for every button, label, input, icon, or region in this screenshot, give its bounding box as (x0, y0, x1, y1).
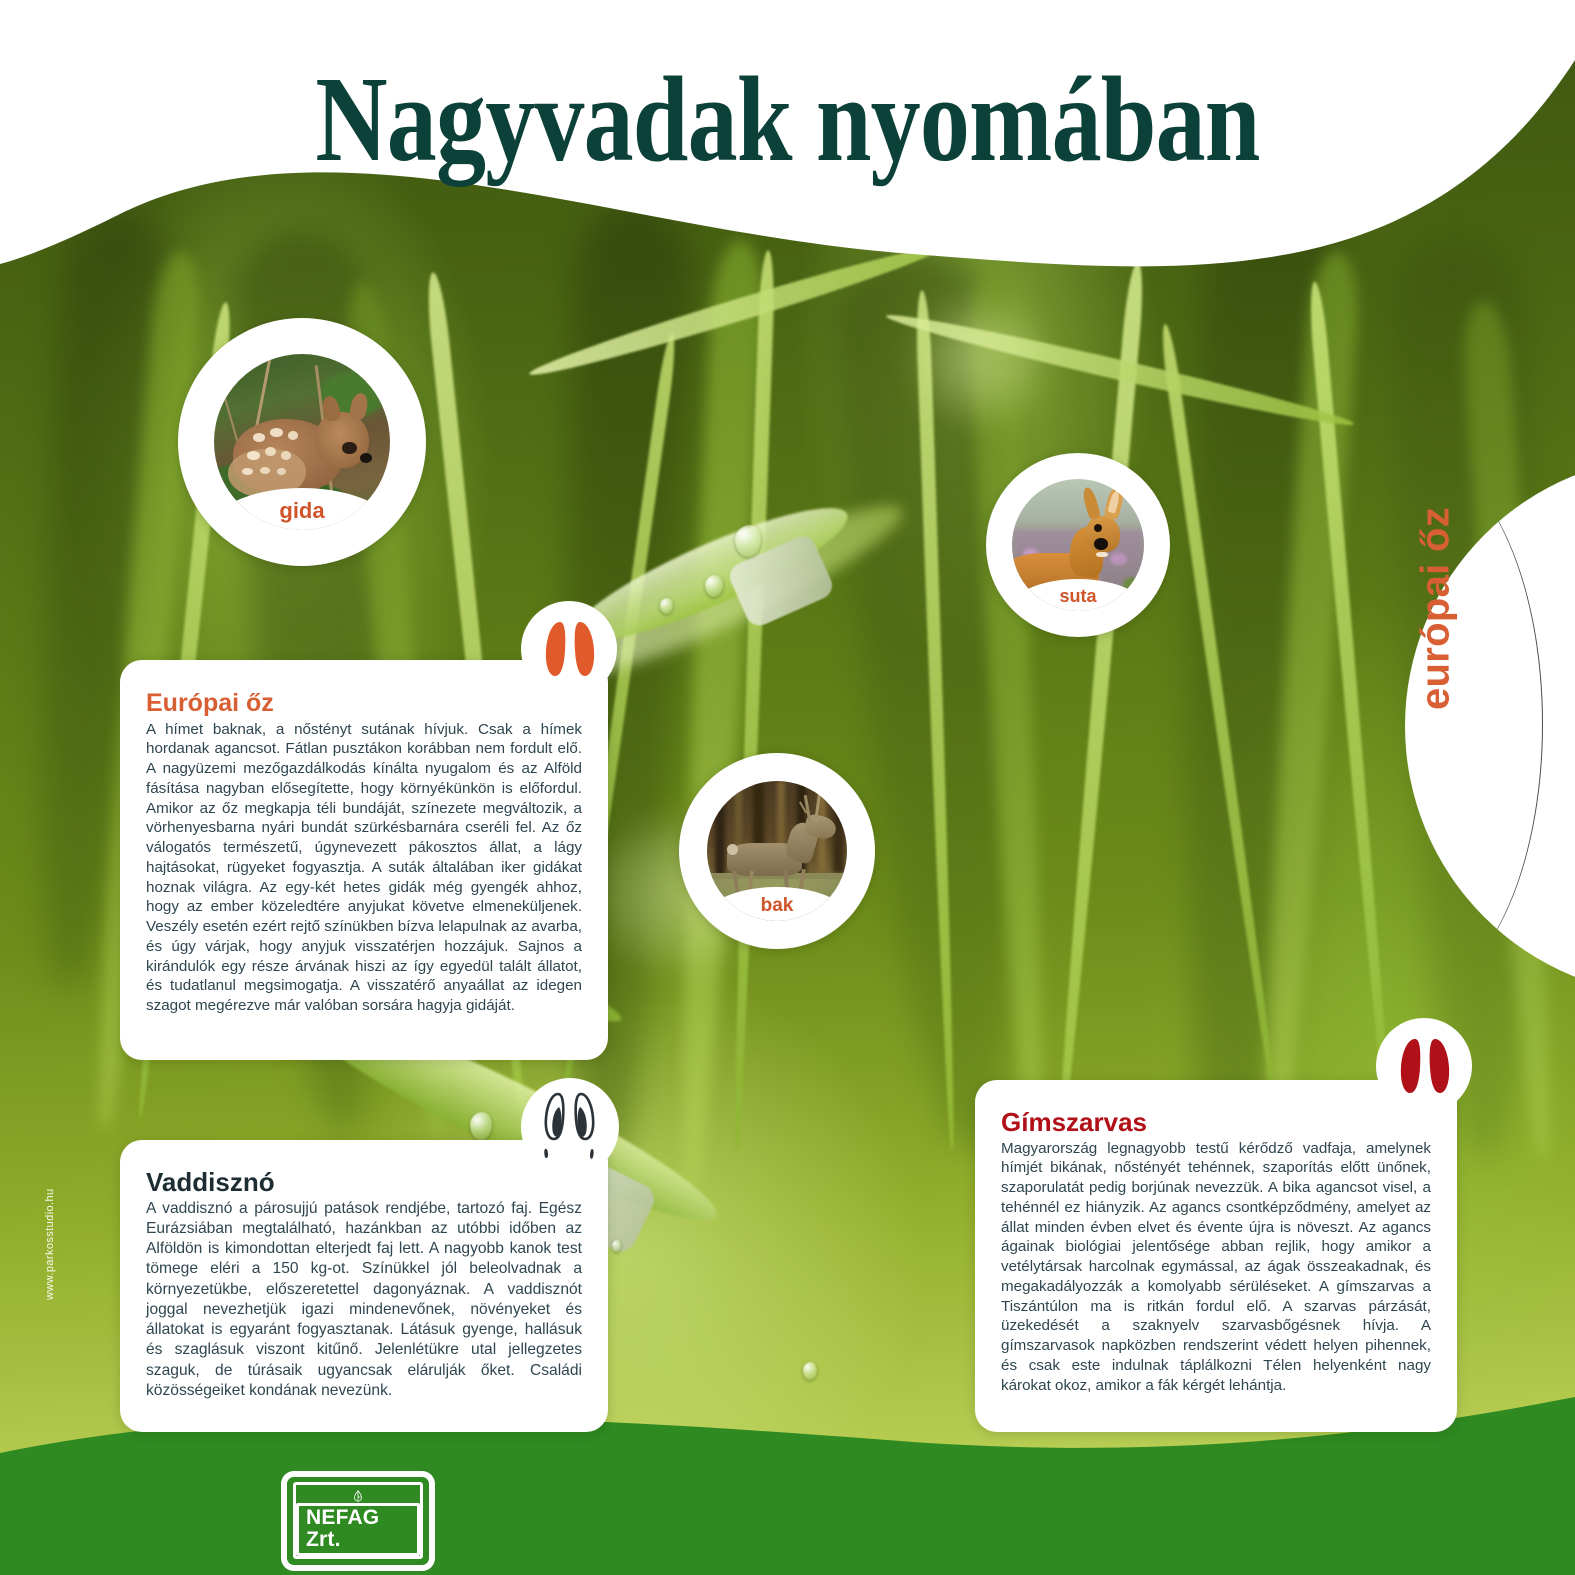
roe-deer-hoof-print-icon (540, 618, 598, 680)
side-tab-label: európai őz (1414, 444, 1459, 774)
panel-vaddiszno: Vaddisznó A vaddisznó a párosujjú patáso… (120, 1140, 608, 1432)
nefag-logo: NEFAG Zrt. (287, 1477, 429, 1565)
poster-root: Nagyvadak nyomában európai őz (0, 0, 1575, 1575)
panel-body-gimszarvas: Magyarország legnagyobb testű kérődző va… (1001, 1139, 1431, 1396)
panel-europai-oz: Európai őz A hímet baknak, a nőstényt su… (120, 660, 608, 1060)
panel-title-europai-oz: Európai őz (146, 690, 582, 718)
nefag-logo-frame: NEFAG Zrt. (293, 1482, 423, 1559)
wild-boar-hoof-print-badge (521, 1078, 619, 1176)
panel-gimszarvas: Gímszarvas Magyarország legnagyobb testű… (975, 1080, 1457, 1432)
panel-title-vaddiszno: Vaddisznó (146, 1168, 582, 1197)
red-deer-hoof-print-icon (1395, 1035, 1453, 1097)
red-deer-hoof-print-badge (1376, 1018, 1472, 1114)
photo-bak: bak (707, 781, 847, 921)
wild-boar-hoof-print-icon (537, 1091, 603, 1163)
photo-suta: suta (1012, 479, 1144, 611)
panel-body-vaddiszno: A vaddisznó a párosujjú patások rendjébe… (146, 1199, 582, 1402)
leaf-icon (345, 1490, 371, 1502)
studio-credit: www.parkosstudio.hu (44, 1188, 56, 1300)
page-title: Nagyvadak nyomában (142, 56, 1434, 184)
nefag-logo-text: NEFAG Zrt. (296, 1503, 420, 1556)
roe-deer-hoof-print-badge (521, 601, 617, 697)
photo-circle-suta: suta (986, 453, 1170, 637)
photo-gida: gida (214, 354, 390, 530)
photo-circle-gida: gida (178, 318, 426, 566)
photo-circle-bak: bak (679, 753, 875, 949)
panel-title-gimszarvas: Gímszarvas (1001, 1108, 1431, 1137)
panel-body-europai-oz: A hímet baknak, a nőstényt sutának hívju… (146, 720, 582, 1016)
